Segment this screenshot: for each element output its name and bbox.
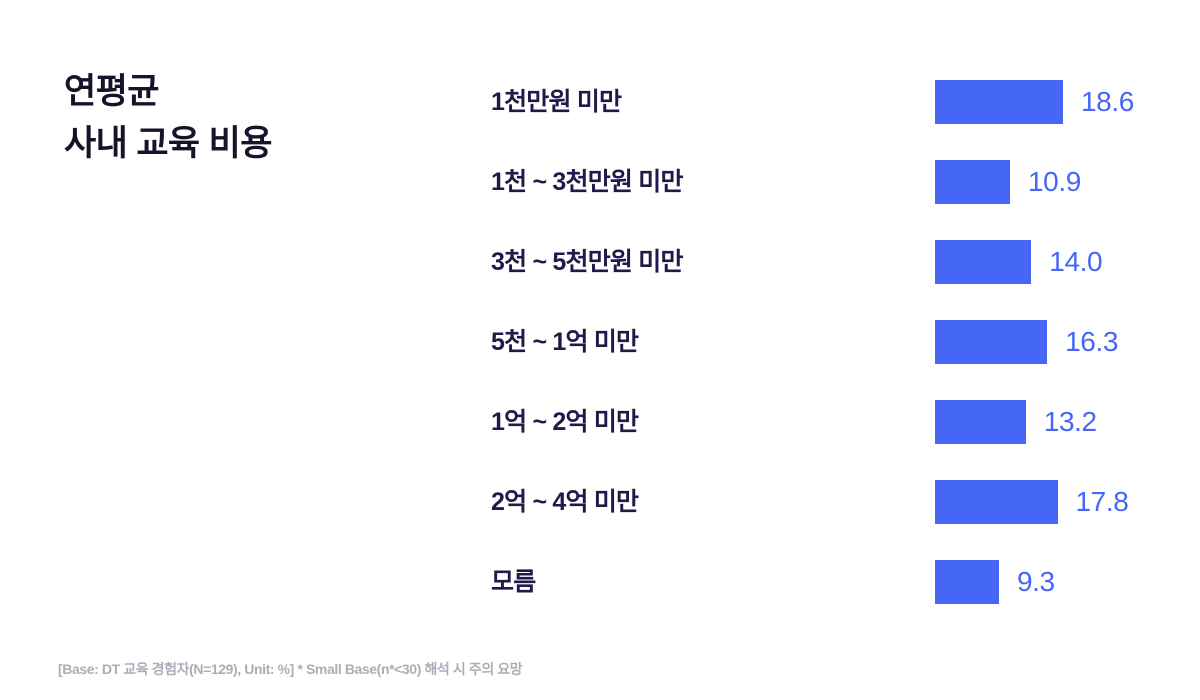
- bar-group: 18.6: [935, 80, 1134, 124]
- chart-row: 모름9.3: [0, 560, 1200, 604]
- category-label: 2억 ~ 4억 미만: [491, 487, 638, 517]
- bar: [935, 560, 999, 604]
- chart-row: 1억 ~ 2억 미만13.2: [0, 400, 1200, 444]
- chart-row: 3천 ~ 5천만원 미만14.0: [0, 240, 1200, 284]
- bar: [935, 80, 1063, 124]
- bar-chart: 1천만원 미만18.61천 ~ 3천만원 미만10.93천 ~ 5천만원 미만1…: [0, 0, 1200, 640]
- bar: [935, 240, 1031, 284]
- bar-group: 16.3: [935, 320, 1118, 364]
- bar: [935, 320, 1047, 364]
- footnote-text: [Base: DT 교육 경험자(N=129), Unit: %] * Smal…: [58, 659, 522, 679]
- bar-value-label: 9.3: [1017, 560, 1055, 604]
- category-label: 5천 ~ 1억 미만: [491, 327, 638, 357]
- bar: [935, 400, 1026, 444]
- category-label: 모름: [491, 567, 535, 597]
- category-label: 1억 ~ 2억 미만: [491, 407, 638, 437]
- bar-value-label: 13.2: [1044, 400, 1097, 444]
- bar-value-label: 16.3: [1065, 320, 1118, 364]
- bar: [935, 480, 1058, 524]
- bar-value-label: 10.9: [1028, 160, 1081, 204]
- bar-group: 14.0: [935, 240, 1102, 284]
- chart-row: 5천 ~ 1억 미만16.3: [0, 320, 1200, 364]
- bar-value-label: 14.0: [1049, 240, 1102, 284]
- chart-row: 2억 ~ 4억 미만17.8: [0, 480, 1200, 524]
- category-label: 1천 ~ 3천만원 미만: [491, 167, 683, 197]
- bar-value-label: 18.6: [1081, 80, 1134, 124]
- bar-value-label: 17.8: [1076, 480, 1129, 524]
- bar-group: 17.8: [935, 480, 1128, 524]
- category-label: 3천 ~ 5천만원 미만: [491, 247, 683, 277]
- category-label: 1천만원 미만: [491, 87, 621, 117]
- bar-group: 13.2: [935, 400, 1097, 444]
- bar: [935, 160, 1010, 204]
- bar-group: 10.9: [935, 160, 1081, 204]
- chart-row: 1천 ~ 3천만원 미만10.9: [0, 160, 1200, 204]
- slide-canvas: 연평균 사내 교육 비용 1천만원 미만18.61천 ~ 3천만원 미만10.9…: [0, 0, 1200, 700]
- bar-group: 9.3: [935, 560, 1055, 604]
- chart-row: 1천만원 미만18.6: [0, 80, 1200, 124]
